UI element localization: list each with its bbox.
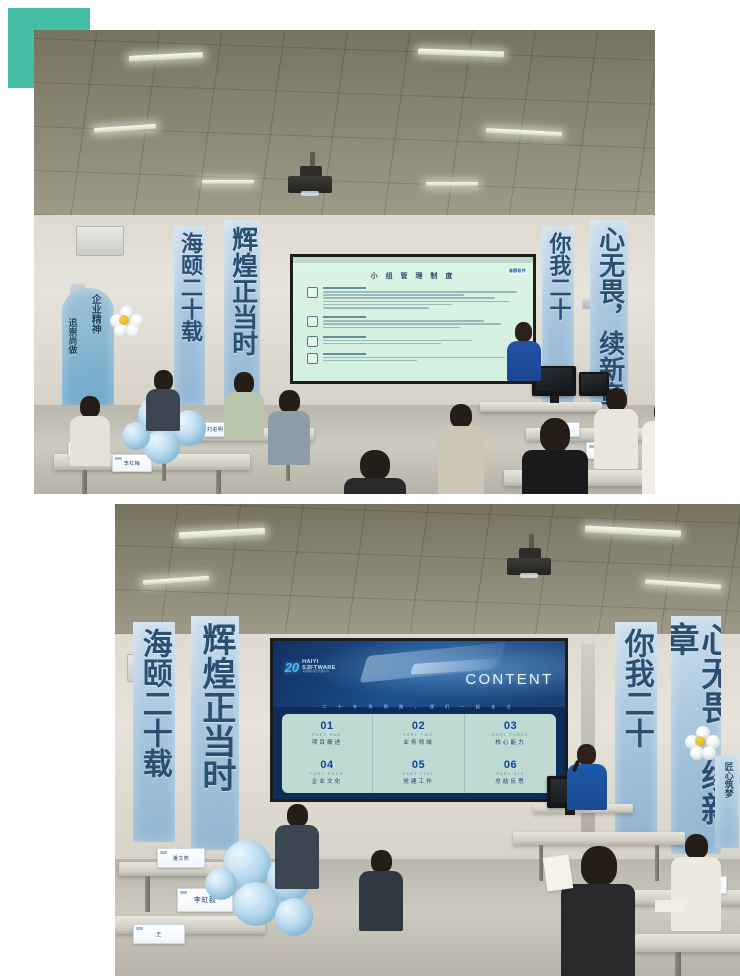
audience-member [594,388,638,468]
person-body [522,450,588,494]
daisy-center [695,736,705,746]
agenda-label: 企业文化 [312,777,342,785]
standee-text: 企业精神 [89,294,100,334]
projection-screen-bottom: 20 HAIYI S∃FTWARE 海颐软件股份有限公司 CONTENT 二 十… [270,638,568,802]
presenter-bottom-photo [563,744,611,836]
anniversary-mark: 20 [285,661,299,674]
namecard: 潘文燕 [157,848,205,868]
person-head [685,834,708,859]
person-body [224,392,264,440]
person-body [671,857,721,931]
agenda-item: 01 PART ONE 项目概述 [282,714,374,754]
namecard-tab [180,891,187,894]
banner-text: 辉煌正当时 [197,622,233,792]
agenda-item: 05 PART FIVE 党建工作 [373,753,465,793]
desk-right-front [635,934,740,952]
audience-member [146,370,180,430]
agenda-part-label: PART SIX [497,772,525,776]
text-line [323,343,441,345]
audience-member [561,846,635,976]
photo-top: 小 组 管 理 制 度 海颐软件 [34,30,655,494]
namecard-tab [115,457,122,460]
agenda-item: 03 PART THREE 核心能力 [465,714,557,754]
agenda-label: 总结反思 [495,777,525,785]
poster-page: 小 组 管 理 制 度 海颐软件 [0,0,740,976]
person-body [438,426,484,494]
classroom-scene-bottom: 20 HAIYI S∃FTWARE 海颐软件股份有限公司 CONTENT 二 十… [115,504,740,976]
text-line [323,323,501,325]
document-icon [307,287,318,298]
agenda-number: 03 [504,721,517,732]
standee-text: 匠心筑梦 [722,762,731,798]
namecard: 李红梅 [112,454,152,472]
agenda-number: 04 [320,760,333,771]
namecard-name: 李红梅 [124,460,141,467]
balloon [205,868,237,900]
document-icon [307,316,318,327]
namecard: 王 [133,924,185,944]
daisy-petal [126,324,140,338]
person-body [642,421,655,494]
person-head [360,450,390,480]
document-icon [307,353,318,364]
person-body [594,409,638,469]
text-line [323,320,484,322]
daisy-center [119,315,129,325]
agenda-number: 02 [412,721,425,732]
person-head [80,396,100,418]
daisy-balloon [685,726,721,762]
desk-leg [82,470,87,494]
slide-section [307,316,519,330]
desk-leg [145,876,150,912]
text-line [323,291,517,293]
slide-heading: CONTENT [465,671,553,688]
namecard-name: 王 [156,931,162,938]
classroom-scene-top: 小 组 管 理 制 度 海颐软件 [34,30,655,494]
text-line [323,357,505,359]
slide-top-bar [293,257,533,263]
agenda-part-label: PART TWO [403,733,433,737]
person-head [654,400,655,423]
agenda-part-label: PART FIVE [403,772,435,776]
agenda-number: 06 [504,760,517,771]
section-heading-bar [323,287,366,289]
person-body [275,825,319,889]
daisy-balloon [110,306,144,340]
banner-text: 海颐二十载 [138,628,170,778]
agenda-part-label: PART FOUR [310,772,344,776]
projection-screen-top: 小 组 管 理 制 度 海颐软件 [290,254,536,384]
slide-subtitle: 二 十 年 风 雨 路 ， 我 们 一 起 走 过 [273,704,565,710]
audience-member [642,400,655,494]
agenda-part-label: PART THREE [492,733,529,737]
slide-section-lines [323,336,519,347]
monitor-stand [550,396,559,403]
person-head [287,804,308,827]
agenda-number: 01 [320,721,333,732]
namecard-tab [136,927,143,930]
desk-leg [675,952,681,976]
daisy-petal [702,746,716,760]
agenda-number: 05 [412,760,425,771]
audience-member [438,404,484,494]
wall-ac-unit [76,226,124,256]
person-body [561,884,635,976]
desk-leg [655,845,659,881]
banner-left-outer: 海颐二十载 [133,622,175,842]
slide-section [307,353,519,364]
audience-member [268,390,310,464]
ceiling-tiles [115,504,740,634]
audience-member [70,396,110,466]
person-head [371,850,392,873]
person-body [507,341,541,381]
slide-section [307,336,519,347]
slide-logo: 海颐软件 [507,267,528,275]
document-icon [307,336,318,347]
ceiling-light [426,182,478,186]
section-heading-bar [323,316,366,318]
text-line [323,327,460,329]
agenda-label: 项目概述 [312,738,342,746]
audience-member [224,372,264,438]
person-body [268,411,310,465]
person-head [450,404,472,428]
person-head [606,388,627,411]
projector-lens [301,191,319,196]
namecard-tab [160,851,167,854]
banner-text: 海颐二十载 [178,232,201,342]
ceiling-light [202,180,254,184]
agenda-item: 06 PART SIX 总结反思 [465,753,557,793]
desk-leg [539,845,543,881]
slide-text-list: 小 组 管 理 制 度 海颐软件 [293,257,533,381]
person-head [577,744,596,765]
person-body [344,478,406,494]
agenda-grid: 01 PART ONE 项目概述 02 PART TWO 业务领域 03 PAR… [282,714,557,793]
audience-member [671,834,721,930]
paper-sheet [543,854,573,891]
section-heading-bar [323,336,366,338]
text-line [323,294,464,296]
standee-subtext: 追崇尚做 [66,318,75,354]
slide-content-agenda: 20 HAIYI S∃FTWARE 海颐软件股份有限公司 CONTENT 二 十… [273,641,565,799]
banner-left-inner: 辉煌正当时 [191,616,239,850]
agenda-label: 业务领域 [403,738,433,746]
namecard-name: 潘文燕 [173,855,190,862]
person-head [515,322,532,342]
slide-body [299,287,527,364]
slide-title: 小 组 管 理 制 度 [299,271,527,281]
slide-section-lines [323,353,519,364]
person-head [540,418,570,452]
logo-line-3: 海颐软件股份有限公司 [302,671,336,674]
banner-text: 辉煌正当时 [228,226,255,356]
company-logo: 20 HAIYI S∃FTWARE 海颐软件股份有限公司 [285,660,336,674]
agenda-part-label: PART ONE [312,733,342,737]
text-line [323,304,452,306]
desk-leg [216,470,221,494]
text-line [323,340,472,342]
section-heading-bar [323,353,366,355]
ceiling-tiles [34,30,655,215]
text-line [323,307,429,309]
person-body [359,871,403,931]
namecard-name: 刘进明 [207,426,224,433]
balloon [275,898,313,936]
person-head [154,370,173,391]
photo-bottom: 20 HAIYI S∃FTWARE 海颐软件股份有限公司 CONTENT 二 十… [115,504,740,976]
agenda-label: 核心能力 [495,738,525,746]
slide-section-lines [323,316,519,330]
banner-text: 你我二十 [546,232,569,320]
person-head [234,372,254,394]
audience-member [344,450,406,494]
text-line [323,360,417,362]
audience-member [275,804,319,888]
person-head [279,390,300,413]
slide-section-lines [323,287,519,310]
logo-text: HAIYI S∃FTWARE 海颐软件股份有限公司 [302,660,336,674]
projector-lens [520,573,538,578]
audience-member [359,850,403,930]
presenter-top-photo [502,322,546,418]
slide-section [307,287,519,310]
text-line [323,297,495,299]
agenda-item: 02 PART TWO 业务领域 [373,714,465,754]
text-line [323,301,509,303]
banner-text: 你我二十 [620,628,652,748]
person-head [581,846,617,886]
audience-member [522,418,588,494]
paper-sheet [655,900,685,912]
person-body [146,389,180,431]
agenda-item: 04 PART FOUR 企业文化 [282,753,374,793]
agenda-label: 党建工作 [403,777,433,785]
balloon [233,882,279,926]
person-body [70,416,110,466]
